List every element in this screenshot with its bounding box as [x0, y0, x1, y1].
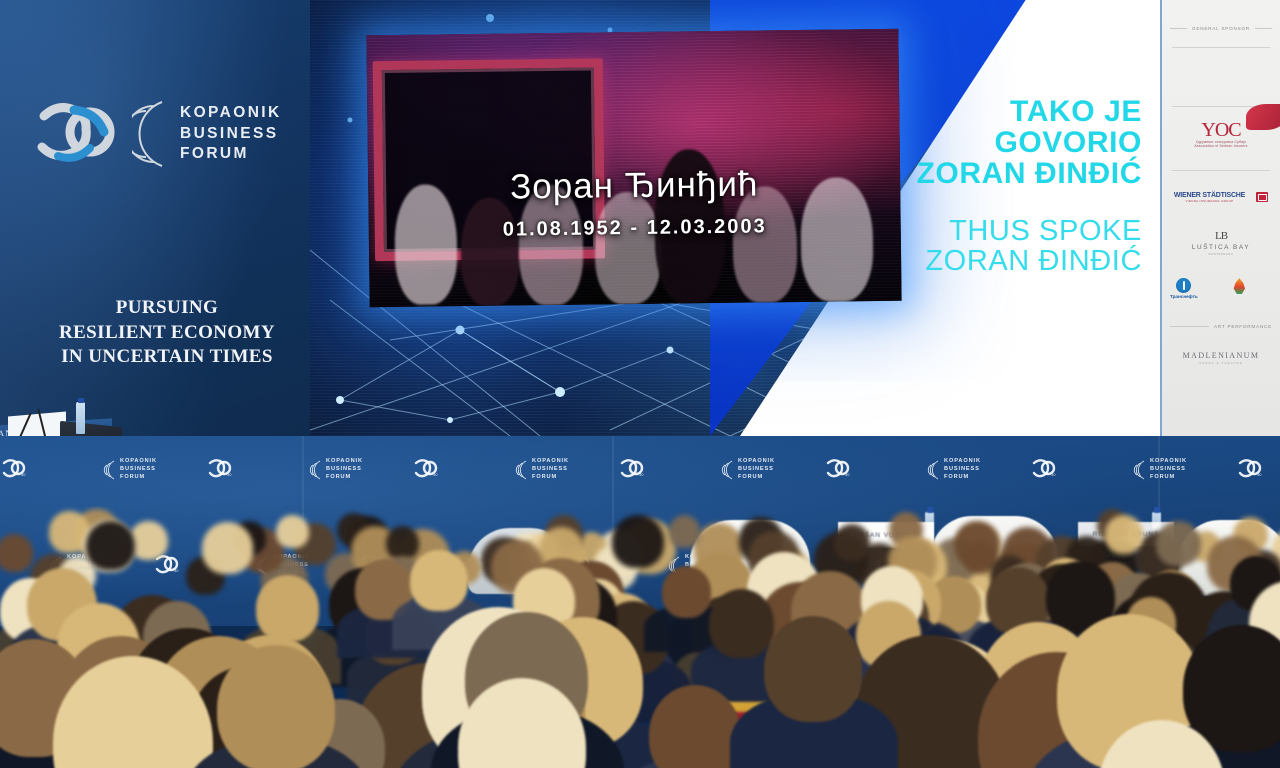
backdrop-forum-logo: KOPAONIKBUSINESSFORUM: [309, 458, 363, 482]
backdrop-anniversary-logo: 30: [0, 458, 26, 483]
slide-title-serbian: TAKO JE GOVORIO ZORAN ĐINĐIĆ: [772, 96, 1142, 190]
sponsor-lustica-name: LUŠTICA BAY: [1192, 244, 1250, 251]
general-sponsor-header: GENERAL SPONSOR: [1170, 26, 1272, 31]
audience-crowd: [0, 506, 1280, 768]
sponsor-yoc-name: YOC: [1194, 120, 1247, 141]
transneft-mark-icon: [1176, 278, 1191, 293]
sponsor-lustica-subtitle: MONTENEGRO: [1209, 253, 1234, 256]
svg-text:30: 30: [1257, 472, 1262, 477]
audience-head: [217, 645, 335, 768]
svg-text:30: 30: [433, 472, 438, 477]
backdrop-anniversary-logo: 30: [1236, 458, 1262, 483]
backdrop-anniversary-logo: 30: [412, 458, 438, 483]
audience-head: [834, 524, 870, 561]
backdrop-anniversary-logo: 30: [206, 458, 232, 483]
sponsor-madlenianum-name: MADLENIANUM: [1183, 351, 1260, 360]
slide-headline: TAKO JE GOVORIO ZORAN ĐINĐIĆ THUS SPOKE …: [772, 96, 1142, 276]
audience-head: [612, 515, 664, 568]
lustica-monogram-icon: LB: [1215, 230, 1227, 242]
sponsor-wall: GENERAL SPONSOR YOC Удружење осигурања С…: [1160, 0, 1280, 436]
sponsor-wiener-subtitle: VIENNA INSURANCE GROUP: [1174, 200, 1245, 203]
tagline-line-2: RESILIENT ECONOMY: [28, 321, 306, 346]
audience-head: [86, 521, 135, 571]
slide-sr-line-3: ZORAN ĐINĐIĆ: [772, 158, 1142, 189]
sponsor-yoc-subtitle-en: Association of Serbian Insurers: [1194, 145, 1247, 149]
forum-name: KOPAONIK BUSINESS FORUM: [180, 103, 282, 164]
conference-photo-stage: KOPAONIK BUSINESS FORUM PURSUING RESILIE…: [0, 0, 1280, 768]
svg-text:30: 30: [21, 472, 26, 477]
flame-logo-icon: [1232, 278, 1247, 294]
sponsor-row-madlenianum: MADLENIANUM OPERA & THEATRE: [1170, 345, 1272, 371]
sponsor-row-transneft: Транснефть: [1170, 278, 1272, 304]
audience-head: [256, 575, 320, 642]
art-performance-label: ART PERFORMANCE: [1214, 324, 1272, 329]
backdrop-forum-logo: KOPAONIKBUSINESSFORUM: [721, 458, 775, 482]
podium-water-bottle: [76, 402, 85, 434]
slide-sr-line-1: TAKO JE: [772, 96, 1142, 127]
audience-head: [1156, 521, 1201, 567]
audience-head: [662, 566, 712, 618]
backdrop-forum-logo: KOPAONIKBUSINESSFORUM: [515, 458, 569, 482]
audience-head: [1105, 515, 1143, 554]
tagline-line-1: PURSUING: [28, 296, 306, 321]
wiener-shield-icon: [1256, 192, 1268, 202]
sponsor-transneft-name: Транснефть: [1170, 295, 1198, 300]
sponsor-row-wiener: WIENER STÄDTISCHE VIENNA INSURANCE GROUP: [1170, 184, 1272, 210]
forum-tagline: PURSUING RESILIENT ECONOMY IN UNCERTAIN …: [28, 296, 306, 370]
slide-sr-line-2: GOVORIO: [772, 127, 1142, 158]
sponsor-logo-red-mark: [1246, 104, 1280, 130]
slide-en-line-1: THUS SPOKE: [772, 216, 1142, 246]
general-sponsor-label: GENERAL SPONSOR: [1192, 26, 1250, 31]
arc-mark-icon: [132, 96, 172, 172]
svg-text:30: 30: [227, 472, 232, 477]
led-presentation-screen: Зоран Ђинђић 01.08.1952 - 12.03.2003 TAK…: [310, 0, 1160, 436]
forum-branding: KOPAONIK BUSINESS FORUM PURSUING RESILIE…: [28, 96, 278, 172]
audience-head: [669, 515, 701, 547]
audience-head: [764, 616, 862, 722]
art-partner-header: ART PERFORMANCE: [1170, 324, 1272, 329]
svg-text:30: 30: [1051, 472, 1056, 477]
backdrop-anniversary-logo: 30: [1030, 458, 1056, 483]
backdrop-anniversary-logo: 30: [618, 458, 644, 483]
sponsor-madlenianum-subtitle: OPERA & THEATRE: [1199, 361, 1243, 365]
anniversary-30-years-logo: [28, 96, 124, 172]
backdrop-forum-logo: KOPAONIKBUSINESSFORUM: [103, 458, 157, 482]
audience-head: [202, 522, 253, 574]
sponsor-wiener-name: WIENER STÄDTISCHE: [1174, 192, 1245, 199]
audience-head: [410, 550, 468, 611]
tagline-line-3: IN UNCERTAIN TIMES: [28, 345, 306, 370]
audience-head: [954, 521, 999, 567]
svg-text:30: 30: [639, 472, 644, 477]
backdrop-anniversary-logo: 30: [824, 458, 850, 483]
backdrop-forum-logo: KOPAONIKBUSINESSFORUM: [927, 458, 981, 482]
slide-en-line-2: ZORAN ĐINĐIĆ: [772, 246, 1142, 276]
audience-head: [709, 589, 775, 658]
audience-head: [0, 534, 33, 572]
audience-head: [129, 521, 167, 560]
svg-text:30: 30: [845, 472, 850, 477]
sponsor-row-lustica: LB LUŠTICA BAY MONTENEGRO: [1170, 230, 1272, 256]
slide-title-english: THUS SPOKE ZORAN ĐINĐIĆ: [772, 216, 1142, 276]
audience-head: [386, 526, 419, 560]
left-brand-wall: [0, 0, 312, 440]
audience-head: [276, 515, 308, 548]
